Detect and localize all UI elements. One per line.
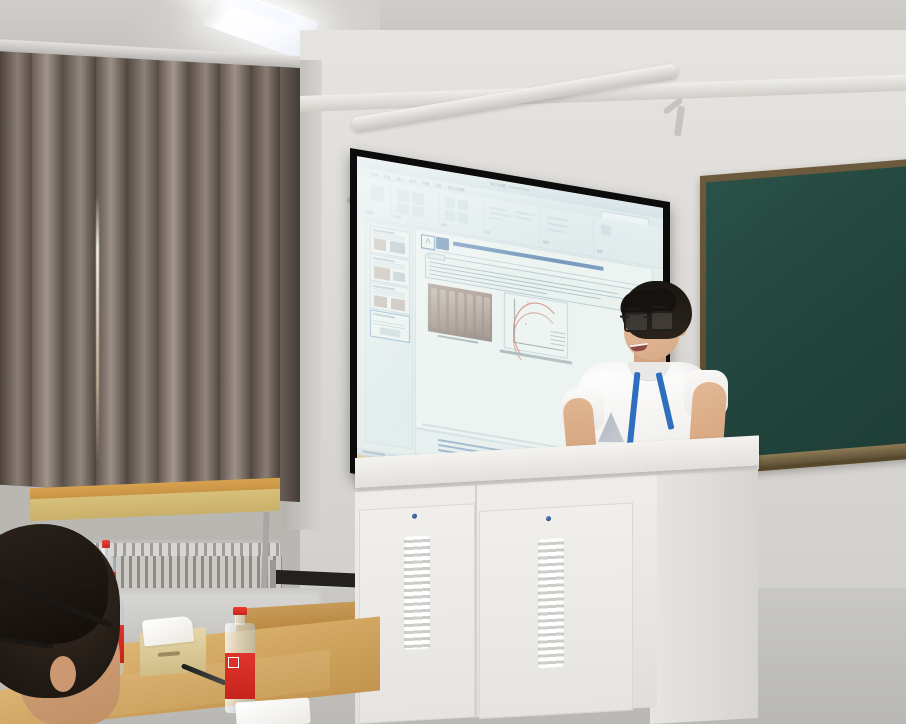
ribbon-group-label: 编辑 — [597, 249, 603, 254]
tab-file[interactable]: 文件 — [371, 172, 378, 178]
lectern-body[interactable] — [355, 473, 657, 724]
slide-thumbnail-pane[interactable] — [365, 220, 413, 450]
tab-animations[interactable]: 动画 — [435, 182, 442, 188]
tab-design[interactable]: 设计 — [409, 178, 416, 184]
ribbon-group-label: 段落 — [485, 230, 491, 235]
lectern-side-panel — [650, 466, 758, 724]
lectern-lock-icon[interactable] — [412, 514, 417, 519]
slide-thumbnail-selected[interactable] — [370, 309, 410, 343]
tab-insert[interactable]: 插入 — [397, 176, 404, 182]
window-light-gap — [96, 195, 99, 465]
slide-line-chart: A B — [504, 292, 568, 359]
eyeglasses-lens-left — [624, 312, 649, 332]
classroom-presentation-photo: 演示文稿 - PowerPoint 文件 开始 插入 设计 切换 动画 幻灯片放… — [0, 0, 906, 724]
tissue-paper — [142, 615, 194, 646]
ribbon-group-editing[interactable]: 编辑 — [597, 220, 627, 259]
bottle-cap — [102, 540, 111, 548]
ribbon-group-label: 字体 — [441, 222, 447, 227]
ventilation-louvers — [404, 535, 430, 650]
specimen-photo — [428, 283, 492, 342]
ribbon-group-label: 幻灯片 — [393, 214, 401, 219]
tab-home[interactable]: 开始 — [384, 174, 391, 180]
water-bottle — [225, 607, 255, 713]
napkin — [235, 697, 311, 724]
ribbon-group-slides[interactable]: 幻灯片 — [393, 185, 440, 227]
window-curtains — [0, 45, 300, 502]
institute-logo-icon — [436, 237, 449, 251]
callout-tag — [428, 252, 445, 261]
bottle-cap — [233, 607, 246, 615]
lectern-lock-icon[interactable] — [546, 516, 551, 521]
ribbon-group-drawing[interactable]: 绘图 — [543, 211, 594, 254]
lectern-door-right[interactable] — [479, 502, 633, 719]
tab-transitions[interactable]: 切换 — [422, 180, 429, 186]
eyeglasses-lens-right — [650, 311, 674, 331]
ribbon-group-label: 绘图 — [543, 240, 549, 245]
ribbon-group-paragraph[interactable]: 段落 — [485, 201, 540, 244]
ventilation-louvers — [538, 537, 564, 668]
attendee-ear — [50, 656, 76, 692]
ribbon-group-font[interactable]: 字体 — [441, 193, 484, 234]
lectern-door-seam — [475, 483, 477, 717]
ribbon-group-clipboard[interactable]: 剪贴板 — [365, 181, 392, 220]
eyeglasses-bridge — [644, 316, 652, 318]
ribbon-group-label: 剪贴板 — [365, 210, 373, 215]
